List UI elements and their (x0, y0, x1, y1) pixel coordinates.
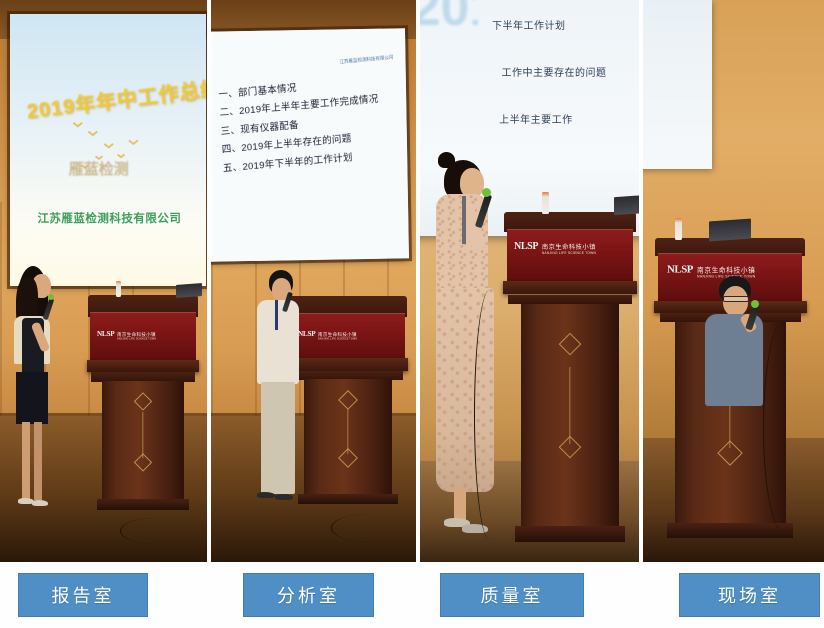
podium-sign-en: NANJING LIFE SCIENCE TOWN (318, 338, 357, 341)
trousers (261, 382, 295, 494)
lanyard (275, 300, 278, 330)
leg-left (22, 422, 30, 500)
podium-ornament-top (134, 393, 153, 412)
podium-ornament-bottom (338, 448, 358, 468)
podium-sign-cn: 南京生命科技小镇 (697, 266, 756, 274)
slide-line-3: 上半年主要工作 (499, 111, 573, 126)
microphone-head (482, 188, 491, 197)
podium-sign-1: NLSP 南京生命科技小镇 NANJING LIFE SCIENCE TOWN (97, 330, 156, 341)
floor-cable-2 (331, 514, 402, 542)
presenter-2 (253, 270, 309, 510)
shoe-right (275, 494, 293, 500)
microphone-head (48, 294, 54, 300)
laptop-4 (709, 219, 751, 242)
podium-ornament-top (338, 390, 358, 410)
podium-base (667, 523, 793, 538)
page-root: 2019年年中工作总结 雁蓝检测 江苏雁蓝检测科技有限公司 (0, 0, 824, 628)
water-bottle-4 (675, 218, 682, 240)
podium-front-panel: NLSP 南京生命科技小镇 NANJING LIFE SCIENCE TOWN (507, 229, 634, 282)
photo-panel-4[interactable]: NLSP 南京生命科技小镇 NANJING LIFE SCIENCE TOWN (643, 0, 824, 562)
photo-panel-1[interactable]: 2019年年中工作总结 雁蓝检测 江苏雁蓝检测科技有限公司 (0, 0, 207, 562)
photo-panel-3[interactable]: 2019 下半年工作计划 工作中主要存在的问题 上半年主要工作 NLSP 南京生… (420, 0, 639, 562)
podium-ornament-stem (142, 412, 143, 458)
water-bottle-1 (116, 281, 121, 297)
podium-front-panel: NLSP 南京生命科技小镇 NANJING LIFE SCIENCE TOWN (90, 312, 196, 361)
podium-base (298, 494, 397, 504)
leg-right (34, 422, 42, 500)
podium-ornament-bottom (559, 436, 581, 458)
podium-base (97, 499, 189, 510)
microphone-head (751, 300, 759, 308)
slide-subtitle-1: 雁蓝检测 (69, 158, 129, 179)
podium-ornament-stem (569, 367, 570, 443)
podium-sign-abbr: NLSP (667, 262, 693, 274)
podium-column (521, 304, 619, 528)
caption-button-quality-room[interactable]: 质量室 (440, 573, 584, 617)
slide-company-1: 江苏雁蓝检测科技有限公司 (37, 210, 181, 226)
projection-screen-1: 2019年年中工作总结 雁蓝检测 江苏雁蓝检测科技有限公司 (10, 14, 206, 286)
slide-line-1: 下半年工作计划 (492, 17, 566, 32)
podium-column (304, 379, 391, 496)
podium-sign-en: NANJING LIFE SCIENCE TOWN (542, 252, 596, 256)
shoe-right (32, 500, 48, 506)
podium-sign-abbr: NLSP (97, 330, 114, 338)
water-bottle-3 (542, 192, 549, 214)
caption-bar: 报告室 分析室 质量室 现场室 (0, 562, 824, 628)
slide-background (10, 14, 206, 286)
podium-sign-en: NANJING LIFE SCIENCE TOWN (117, 338, 156, 341)
podium-shelf (87, 360, 199, 373)
podium-shelf-lower (508, 295, 632, 305)
podium-ornament-bottom (134, 453, 153, 472)
podium-base (515, 526, 626, 543)
laptop-1 (176, 283, 202, 298)
podium-3: NLSP 南京生命科技小镇 NANJING LIFE SCIENCE TOWN (504, 212, 636, 542)
caption-button-site-room[interactable]: 现场室 (679, 573, 820, 617)
podium-1: NLSP 南京生命科技小镇 NANJING LIFE SCIENCE TOWN (88, 295, 198, 510)
agenda-list: 一、部门基本情况 二、2019年上半年主要工作完成情况 三、现有仪器配备 四、2… (218, 75, 401, 183)
projection-screen-4 (643, 0, 712, 169)
presenter-4 (699, 276, 771, 466)
floor-cable-1 (120, 518, 191, 544)
skirt (16, 372, 48, 424)
ankle (454, 488, 466, 522)
caption-button-analysis-room[interactable]: 分析室 (243, 573, 374, 617)
podium-ornament-top (559, 333, 581, 355)
glasses (723, 296, 749, 302)
presenter-1 (8, 264, 68, 514)
laptop-3 (614, 195, 639, 215)
podium-sign-3: NLSP 南京生命科技小镇 NANJING LIFE SCIENCE TOWN (514, 241, 596, 256)
shoe-left (257, 492, 275, 498)
podium-shelf (503, 281, 638, 294)
mic-cable-3 (474, 290, 505, 540)
lanyard (462, 196, 466, 244)
projection-screen-2: 江苏雁蓝检测科技有限公司 一、部门基本情况 二、2019年上半年主要工作完成情况… (211, 28, 409, 261)
podium-column (102, 381, 183, 501)
mic-cable-4 (763, 322, 804, 532)
photo-panel-2[interactable]: 江苏雁蓝检测科技有限公司 一、部门基本情况 二、2019年上半年主要工作完成情况… (211, 0, 416, 562)
caption-button-report-room[interactable]: 报告室 (18, 573, 148, 617)
photo-collage: 2019年年中工作总结 雁蓝检测 江苏雁蓝检测科技有限公司 (0, 0, 824, 562)
slide-line-2: 工作中主要存在的问题 (501, 64, 606, 79)
podium-sign-abbr: NLSP (514, 241, 538, 252)
